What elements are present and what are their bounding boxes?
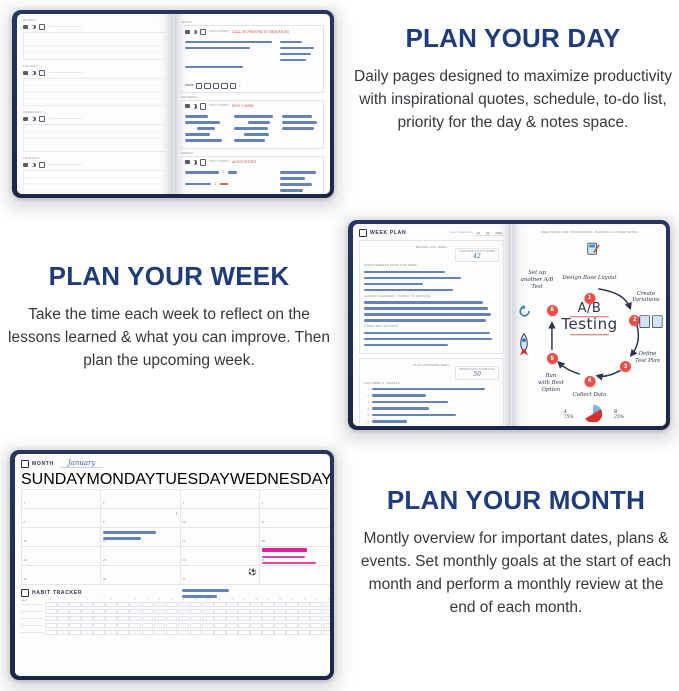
pie-chart-icon — [580, 402, 606, 422]
music-note-icon: ♪ — [175, 511, 178, 517]
day-slot: TUESDAY — [23, 65, 166, 106]
entry-day-label: SUNDAY — [181, 152, 324, 155]
reflections-label: OTHER REFLECTIONS — [364, 325, 499, 328]
note-line — [185, 66, 243, 69]
calendar-cell[interactable]: 24 — [181, 547, 260, 566]
entry-notes: HABITS ✓ — [185, 37, 276, 89]
diagram-step-1-label: Design Base Layout — [555, 275, 625, 282]
day-slot: MONDAY — [23, 19, 166, 60]
todo-line — [280, 59, 307, 62]
schedule-line — [185, 139, 222, 142]
entry-priority-value: ACCOUNTING — [232, 160, 256, 164]
diagram-step-5-label: Run with Best Option — [533, 373, 569, 393]
habit-tracker-header: HABIT TRACKER — [21, 589, 330, 597]
weather-icon — [23, 117, 28, 121]
day-slot-body — [23, 170, 166, 194]
calendar-cell-event[interactable]: 9 ♪ — [101, 509, 180, 528]
todo-line — [282, 115, 311, 118]
diagram-step-2-label: Create Variations — [629, 291, 663, 305]
habit-tracker-title: HABIT TRACKER — [32, 590, 82, 596]
entry-todos — [280, 37, 321, 89]
week-right-page: FREE SPACE FOR STRATEGIZING, PLANNING & … — [513, 224, 666, 426]
day-slot-icons — [23, 162, 166, 169]
metric-row: ↓ — [185, 179, 276, 189]
calendar-icon — [21, 460, 29, 468]
check-icon: ✓ — [238, 83, 241, 88]
metric-value — [220, 183, 228, 186]
entry-priority-label: TODAY'S PRIORITY — [209, 31, 230, 33]
moon-icon — [31, 163, 36, 168]
weekday-header: TUESDAY — [156, 471, 230, 489]
achievement-line — [364, 277, 461, 280]
month-left-page: MONTH January SUNDAY MONDAY TUESDAY WEDN… — [15, 454, 330, 676]
notebook-month: MONTH January SUNDAY MONDAY TUESDAY WEDN… — [6, 446, 338, 684]
reflection-line — [364, 338, 492, 341]
note-line — [185, 47, 250, 50]
entry-icons: TODAY'S PRIORITY ACCOUNTING — [185, 159, 320, 166]
entry-icons: TODAY'S PRIORITY CALL 50 PROSPECTS (MINI… — [185, 29, 320, 36]
target-item — [364, 387, 499, 391]
entry-block: TODAY'S PRIORITY ACCOUNTING ↑ — [181, 156, 324, 195]
calendar-weekday-headers: SUNDAY MONDAY TUESDAY WEDNESDAY THURSDAY — [21, 471, 330, 489]
section-body: Take the time each week to reflect on th… — [4, 303, 334, 373]
calendar-cell[interactable]: 15 — [22, 528, 101, 547]
month-title-group: MONTH — [21, 460, 54, 468]
schedule-left — [185, 112, 230, 146]
checkbox-icon — [200, 103, 207, 110]
month-name: January — [60, 459, 103, 468]
achievements-label: ACHIEVEMENTS FROM THIS WEEK — [364, 264, 499, 267]
checkbox-icon — [21, 589, 29, 597]
entry-metrics: ↑ ↓ — [185, 168, 276, 195]
habit-cells[interactable] — [45, 609, 330, 614]
day-slot-body — [23, 78, 166, 106]
diagram-step-4-label: Collect Data — [566, 392, 614, 399]
achievement-line — [364, 283, 423, 286]
habit-cells[interactable] — [45, 616, 330, 621]
habit-box-icon — [230, 83, 237, 90]
target-item — [364, 420, 499, 424]
day-left-page: MONDAY TUESDAY — [17, 14, 172, 194]
calendar-grid-left: 1 2 3 4 5 8 9 ♪ 10 11 — [21, 489, 330, 585]
weekday-header: SUNDAY — [21, 471, 87, 489]
diagram-step-6-node: 6 — [547, 305, 558, 316]
habit-day-label: HABIT — [21, 600, 43, 602]
page-title: PLAN YOUR DAY — [352, 24, 674, 53]
entry-todos — [280, 168, 321, 195]
moon-icon — [193, 30, 198, 35]
metric-down: ↓ — [214, 182, 217, 186]
habit-cells[interactable] — [45, 602, 330, 607]
review-score-box: YOUR PRODUCTIVITY SCORE 42 — [455, 248, 499, 262]
habit-row[interactable] — [21, 616, 330, 621]
calendar-cell[interactable]: 25 — [260, 547, 330, 566]
calendar-cell[interactable]: 29 — [22, 566, 101, 585]
entry-icons: TODAY'S PRIORITY RUN 5.30PM — [185, 103, 320, 110]
weather-icon — [185, 104, 190, 108]
schedule-line — [185, 133, 210, 136]
weather-icon — [23, 25, 28, 29]
pie-label-a: A 75% — [563, 410, 573, 420]
rocket-icon — [516, 333, 532, 357]
checkbox-icon — [200, 29, 207, 36]
week-date-month: 04 — [484, 231, 491, 236]
habit-name-field[interactable] — [21, 611, 43, 612]
lesson-line — [364, 319, 486, 322]
todo-line — [280, 177, 305, 180]
calendar-cell[interactable]: 8 — [22, 509, 101, 528]
weather-icon — [185, 160, 190, 164]
checkbox-icon — [200, 159, 207, 166]
habit-box-icon — [221, 83, 228, 90]
page-title: PLAN YOUR MONTH — [356, 486, 676, 515]
entry-priority-value: RUN 5.30PM — [232, 104, 253, 108]
calendar-cell[interactable]: 3 — [181, 490, 260, 509]
day-slot: THURSDAY — [23, 157, 166, 194]
upcoming-score-value: 50 — [459, 371, 495, 378]
variation-icons — [639, 315, 663, 329]
schedule-line — [234, 115, 273, 118]
plan-upcoming-week-box: PLAN UPCOMING WEEK PRODUCTIVITY SCORE GO… — [359, 358, 504, 427]
metric-label — [185, 183, 211, 186]
schedule-line — [234, 139, 265, 142]
section-body: Daily pages designed to maximize product… — [352, 65, 674, 135]
moon-icon — [31, 117, 36, 122]
week-date-year: 2020 — [493, 231, 504, 236]
notebook-week: WEEK PLAN WEEK COMMENCING 10 04 2020 REV… — [344, 216, 674, 434]
calendar-cell[interactable]: 30 — [101, 566, 180, 585]
habit-row[interactable] — [21, 602, 330, 607]
day-entry-friday: FRIDAY TODAY'S PRIORITY CALL 50 PROSPECT… — [181, 21, 324, 93]
week-plan-title: WEEK PLAN — [370, 230, 406, 236]
target-item — [364, 407, 499, 411]
checkbox-icon — [39, 24, 46, 31]
metric-up: ↑ — [222, 170, 225, 174]
todo-line — [280, 53, 312, 56]
calendar-cell[interactable]: 23 — [101, 547, 180, 566]
day-slot-label: WEDNESDAY — [23, 111, 166, 114]
notebook-pages: MONDAY TUESDAY — [17, 14, 330, 194]
schedule-line — [197, 127, 215, 130]
achievement-line — [364, 271, 445, 274]
day-slot-label: THURSDAY — [23, 157, 166, 160]
schedule-line — [244, 133, 269, 136]
upcoming-score-box: PRODUCTIVITY SCORE GOAL 50 — [455, 366, 499, 380]
todo-line — [280, 47, 314, 50]
target-item — [364, 400, 499, 404]
entry-day-label: FRIDAY — [181, 21, 324, 24]
calendar-cell[interactable]: 2 — [101, 490, 180, 509]
lesson-line — [364, 313, 491, 316]
calendar-cell[interactable]: 16 — [101, 528, 180, 547]
habit-day-numbers: 12345678 910111213141516 171819202122232… — [45, 599, 330, 601]
habit-row[interactable] — [21, 609, 330, 614]
day-right-page: FRIDAY TODAY'S PRIORITY CALL 50 PROSPECT… — [175, 14, 330, 194]
habit-box-icon — [196, 83, 203, 90]
calendar-cell[interactable]: 1 — [22, 490, 101, 509]
page-title: PLAN YOUR WEEK — [4, 262, 334, 291]
day-entry-saturday: SATURDAY TODAY'S PRIORITY RUN 5.30PM — [181, 96, 324, 149]
review-score: YOUR PRODUCTIVITY SCORE 42 — [364, 248, 499, 262]
calendar-cell[interactable]: 10 — [181, 509, 260, 528]
habit-name-field[interactable] — [21, 604, 43, 605]
day-slot-body — [23, 124, 166, 152]
habit-tracker-section: HABIT TRACKER HABIT 12345678 91011121314… — [21, 589, 330, 635]
habit-cells[interactable] — [45, 623, 330, 628]
calendar-cell[interactable]: 22 — [22, 547, 101, 566]
achievement-line — [364, 289, 453, 292]
schedule-line — [185, 121, 220, 124]
habits-row: HABITS ✓ — [185, 83, 276, 90]
clipboard-icon — [359, 229, 367, 237]
monthly-planner-photo: MONTH January SUNDAY MONDAY TUESDAY WEDN… — [6, 446, 338, 684]
moon-icon — [193, 104, 198, 109]
habit-name-field[interactable] — [21, 618, 43, 619]
todo-line — [280, 183, 312, 186]
metric-label — [185, 171, 219, 174]
ab-testing-diagram: A/B Testing — [513, 224, 666, 426]
section-text-day: PLAN YOUR DAY Daily pages designed to ma… — [352, 24, 674, 134]
todo-line — [282, 127, 314, 130]
lesson-line — [364, 307, 488, 310]
calendar-cell-event[interactable]: 18 — [260, 528, 330, 547]
notebook-pages: MONTH January SUNDAY MONDAY TUESDAY WEDN… — [15, 454, 330, 676]
entry-day-label: SATURDAY — [181, 96, 324, 99]
soccer-ball-icon: ⚽ — [248, 569, 257, 576]
pie-label-b: B 25% — [614, 410, 624, 420]
diagram-step-1-node: 1 — [584, 293, 595, 304]
habits-label: HABITS — [185, 84, 194, 87]
habit-box-icon — [213, 83, 220, 90]
weather-icon — [23, 163, 28, 167]
day-slot-icons — [23, 70, 166, 77]
diagram-step-6-label: Set up another A/B Test — [516, 270, 558, 290]
daily-planner-photo: MONDAY TUESDAY — [8, 6, 338, 202]
week-header: WEEK PLAN WEEK COMMENCING 10 04 2020 — [359, 229, 504, 237]
entry-block: TODAY'S PRIORITY RUN 5.30PM — [181, 100, 324, 149]
section-text-week: PLAN YOUR WEEK Take the time each week t… — [4, 262, 334, 372]
habit-box-icon — [204, 83, 211, 90]
calendar-cell[interactable]: 11 — [260, 509, 330, 528]
checkbox-icon — [39, 116, 46, 123]
week-plan-title-group: WEEK PLAN — [359, 229, 406, 237]
weekly-planner-photo: WEEK PLAN WEEK COMMENCING 10 04 2020 REV… — [344, 216, 674, 434]
lesson-line — [364, 301, 483, 304]
weather-icon — [23, 71, 28, 75]
day-slot: WEDNESDAY — [23, 111, 166, 152]
weekday-header: WEDNESDAY — [230, 471, 330, 489]
target-item — [364, 413, 499, 417]
todo-line — [280, 41, 302, 44]
entry-columns — [185, 112, 320, 146]
upcoming-score: PRODUCTIVITY SCORE GOAL 50 — [364, 366, 499, 380]
notebook-day: MONDAY TUESDAY — [8, 6, 338, 202]
targets-label: THIS WEEK'S TARGETS — [364, 382, 499, 385]
diagram-step-4-node: 4 — [584, 376, 595, 387]
todo-line — [280, 171, 316, 174]
entry-priority-label: TODAY'S PRIORITY — [209, 105, 230, 107]
marketing-image: MONDAY TUESDAY — [0, 0, 679, 691]
event-line — [182, 589, 229, 592]
day-slot-icons — [23, 24, 166, 31]
calendar-cell[interactable]: 4 — [260, 490, 330, 509]
weather-icon — [185, 30, 190, 34]
habit-row[interactable] — [21, 623, 330, 628]
week-date-day: 10 — [475, 231, 482, 236]
day-slot-icons — [23, 116, 166, 123]
moon-icon — [31, 71, 36, 76]
habit-row[interactable] — [21, 630, 330, 635]
priority-line — [48, 26, 82, 27]
week-date-label: WEEK COMMENCING — [450, 232, 472, 234]
target-item — [364, 394, 499, 398]
todo-line — [280, 189, 303, 192]
moon-icon — [193, 160, 198, 165]
review-last-week-box: REVIEW LAST WEEK YOUR PRODUCTIVITY SCORE… — [359, 240, 504, 354]
day-entry-sunday: SUNDAY TODAY'S PRIORITY ACCOUNTING — [181, 152, 324, 195]
entry-priority-value: CALL 50 PROSPECTS (MINIMUM) — [232, 30, 289, 34]
entry-todos — [282, 112, 320, 146]
checkbox-icon — [39, 162, 46, 169]
section-body: Montly overview for important dates, pla… — [356, 527, 676, 620]
calendar-cell-event[interactable]: 31 ⚽ — [181, 566, 260, 585]
metric-row: ↑ — [185, 168, 276, 178]
priority-line — [48, 164, 82, 165]
day-slot-body — [23, 32, 166, 60]
diagram-step-5-node: 5 — [547, 353, 558, 364]
entry-columns: ↑ ↓ — [185, 168, 320, 195]
entry-priority-label: TODAY'S PRIORITY — [209, 161, 230, 163]
lessons-label: LESSONS LEARNED / THINGS TO IMPROVE — [364, 295, 499, 298]
reflection-line — [364, 344, 448, 347]
month-title: MONTH — [32, 461, 54, 467]
day-slot-label: TUESDAY — [23, 65, 166, 68]
schedule-right — [234, 112, 279, 146]
month-header: MONTH January — [21, 459, 330, 468]
review-score-value: 42 — [459, 253, 495, 260]
calendar-cell[interactable]: 17 — [181, 528, 260, 547]
section-text-month: PLAN YOUR MONTH Montly overview for impo… — [356, 486, 676, 620]
event-line — [182, 595, 217, 598]
layout-icon — [586, 242, 600, 256]
metric-value — [228, 171, 237, 174]
targets-list — [364, 387, 499, 426]
reflection-line — [364, 332, 490, 335]
week-left-page: WEEK PLAN WEEK COMMENCING 10 04 2020 REV… — [353, 224, 510, 426]
moon-icon — [31, 25, 36, 30]
week-date-group: WEEK COMMENCING 10 04 2020 — [450, 231, 504, 236]
priority-line — [48, 72, 82, 73]
weekday-header: MONDAY — [87, 471, 156, 489]
schedule-line — [234, 127, 268, 130]
day-slot-label: MONDAY — [23, 19, 166, 22]
habit-cells[interactable] — [45, 630, 330, 635]
habit-name-field[interactable] — [21, 625, 43, 626]
todo-line — [282, 121, 317, 124]
diagram-step-3-label: Define Test Plan — [630, 351, 664, 365]
notebook-pages: WEEK PLAN WEEK COMMENCING 10 04 2020 REV… — [353, 224, 666, 426]
habit-name-field[interactable] — [21, 632, 43, 633]
priority-line — [48, 118, 82, 119]
note-line — [185, 41, 272, 44]
schedule-line — [185, 115, 208, 118]
refresh-icon — [518, 305, 531, 318]
schedule-line — [248, 121, 270, 124]
entry-block: TODAY'S PRIORITY CALL 50 PROSPECTS (MINI… — [181, 25, 324, 93]
checkbox-icon — [39, 70, 46, 77]
entry-columns: HABITS ✓ — [185, 37, 320, 89]
calendar-cell[interactable] — [260, 566, 330, 585]
